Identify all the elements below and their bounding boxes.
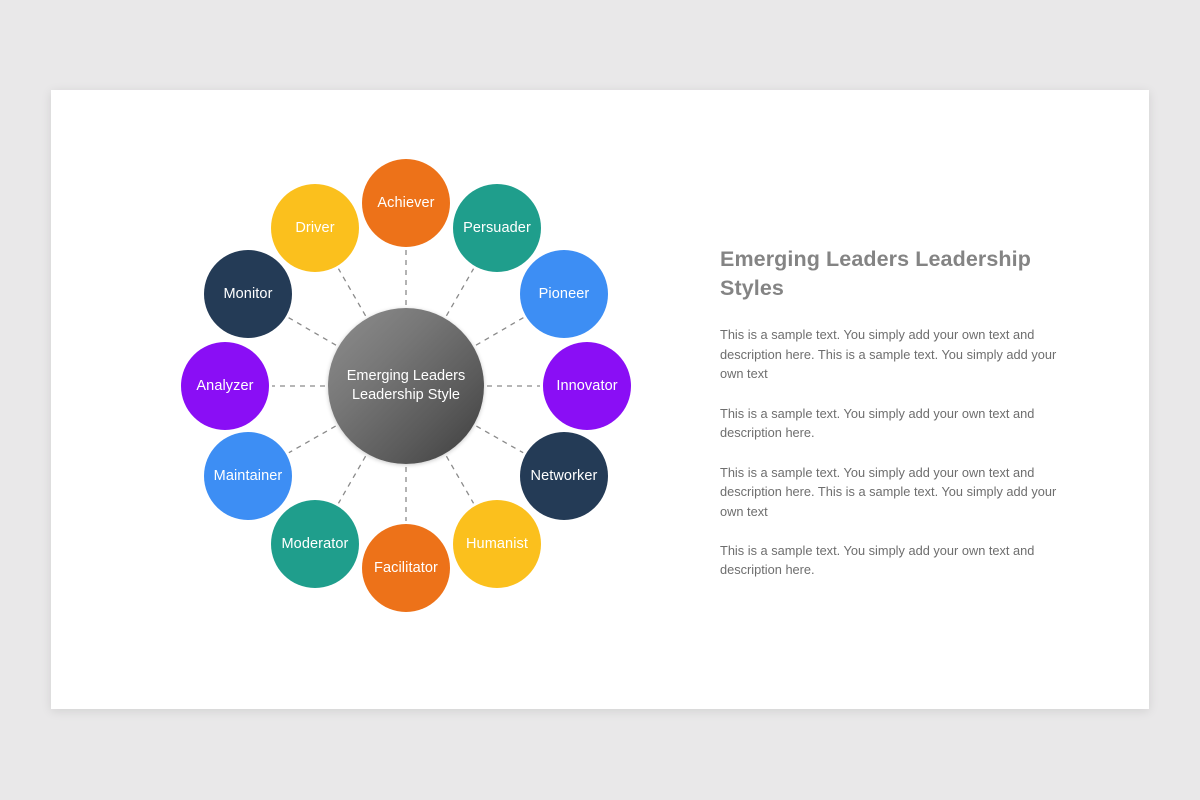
connector-line-networker	[476, 426, 523, 453]
hub-circle-emerging-leaders[interactable]: Emerging Leaders Leadership Style	[328, 308, 484, 464]
connector-line-monitor	[289, 318, 336, 346]
node-circle-pioneer[interactable]: Pioneer	[520, 250, 608, 338]
node-label-persuader: Persuader	[459, 220, 535, 237]
connector-line-moderator	[338, 456, 365, 503]
node-circle-achiever[interactable]: Achiever	[362, 159, 450, 247]
node-label-achiever: Achiever	[373, 195, 438, 212]
node-circle-analyzer[interactable]: Analyzer	[181, 342, 269, 430]
node-label-facilitator: Facilitator	[370, 560, 442, 577]
connector-line-maintainer	[289, 426, 336, 453]
node-circle-driver[interactable]: Driver	[271, 184, 359, 272]
node-circle-networker[interactable]: Networker	[520, 432, 608, 520]
node-circle-persuader[interactable]: Persuader	[453, 184, 541, 272]
text-panel: Emerging Leaders Leadership Styles This …	[720, 245, 1060, 580]
node-label-pioneer: Pioneer	[535, 286, 594, 303]
node-label-monitor: Monitor	[219, 286, 276, 303]
slide-card: AchieverPersuaderPioneerInnovatorNetwork…	[51, 90, 1149, 709]
connector-line-persuader	[446, 269, 473, 316]
node-circle-monitor[interactable]: Monitor	[204, 250, 292, 338]
panel-paragraph: This is a sample text. You simply add yo…	[720, 541, 1060, 580]
page-title: Emerging Leaders Leadership Styles	[720, 245, 1060, 303]
hub-label-line1: Emerging Leaders	[347, 368, 466, 384]
node-circle-moderator[interactable]: Moderator	[271, 500, 359, 588]
node-circle-innovator[interactable]: Innovator	[543, 342, 631, 430]
node-label-maintainer: Maintainer	[210, 468, 287, 485]
node-label-innovator: Innovator	[552, 378, 621, 395]
node-label-analyzer: Analyzer	[192, 378, 257, 395]
hub-label: Emerging Leaders Leadership Style	[337, 367, 476, 404]
hub-label-line2: Leadership Style	[352, 387, 460, 403]
panel-paragraph: This is a sample text. You simply add yo…	[720, 325, 1060, 383]
connector-line-driver	[338, 269, 365, 316]
panel-paragraph: This is a sample text. You simply add yo…	[720, 463, 1060, 521]
panel-paragraphs: This is a sample text. You simply add yo…	[720, 325, 1060, 579]
node-label-moderator: Moderator	[278, 536, 353, 553]
panel-paragraph: This is a sample text. You simply add yo…	[720, 404, 1060, 443]
node-label-networker: Networker	[527, 468, 602, 485]
connector-line-humanist	[446, 456, 473, 503]
leadership-styles-diagram: AchieverPersuaderPioneerInnovatorNetwork…	[141, 155, 661, 645]
node-circle-facilitator[interactable]: Facilitator	[362, 524, 450, 612]
connector-line-pioneer	[476, 318, 523, 346]
node-circle-maintainer[interactable]: Maintainer	[204, 432, 292, 520]
node-circle-humanist[interactable]: Humanist	[453, 500, 541, 588]
node-label-driver: Driver	[291, 220, 338, 237]
node-label-humanist: Humanist	[462, 536, 532, 553]
